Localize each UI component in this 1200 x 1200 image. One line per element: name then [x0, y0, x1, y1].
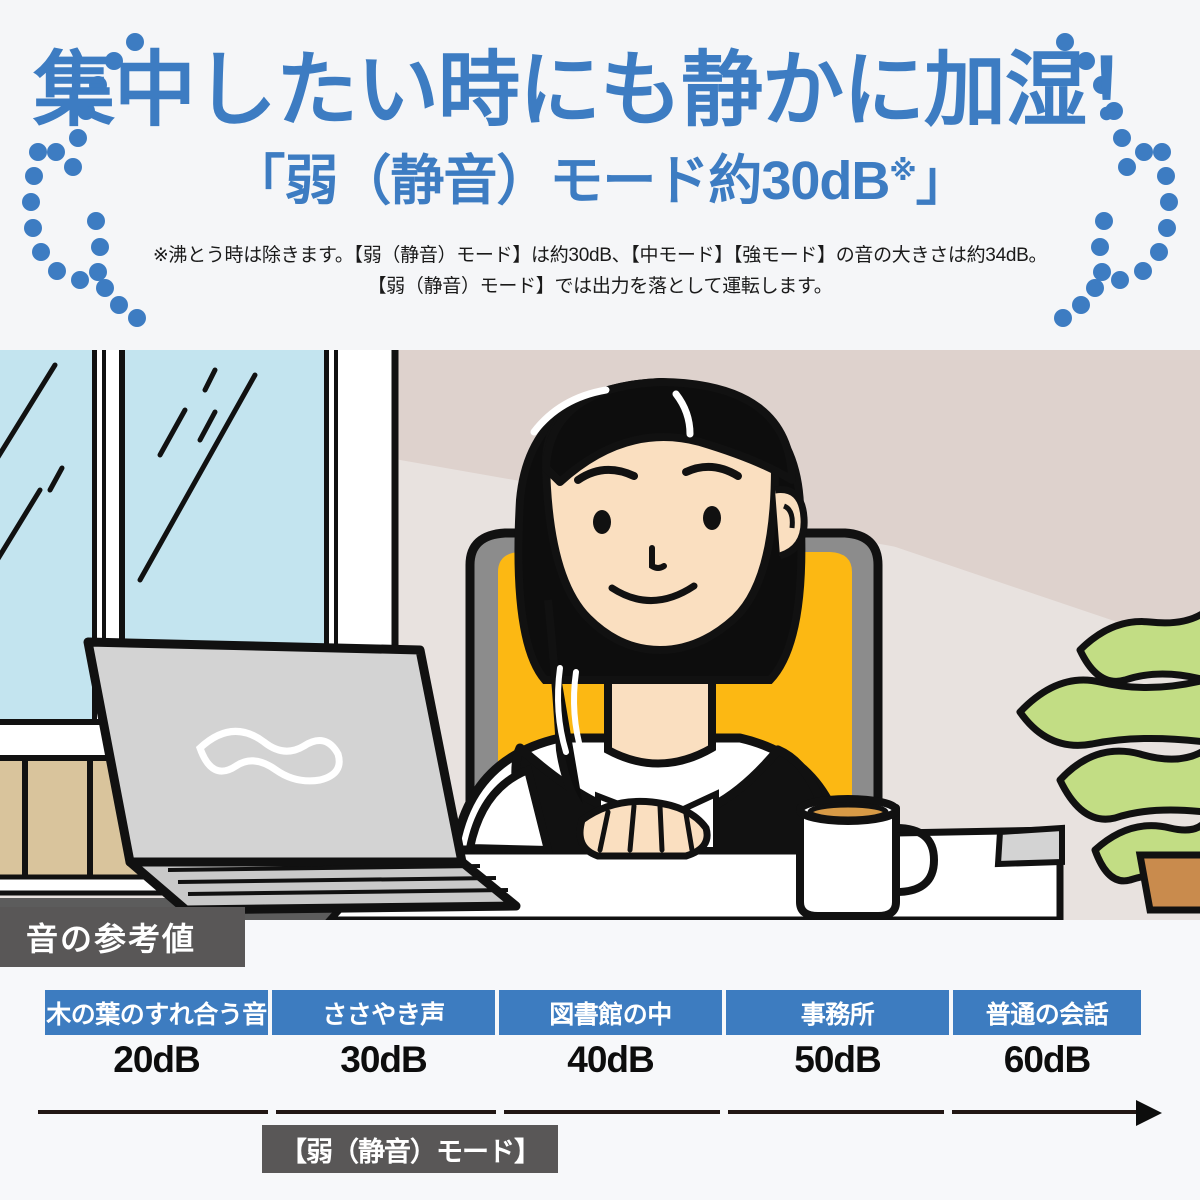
- category-label: ささやき声: [272, 990, 495, 1035]
- axis-segment: [276, 1110, 496, 1114]
- quiet-mode-annotation-badge: 【弱（静音）モード】: [262, 1125, 558, 1173]
- value-label: 30dB: [272, 1039, 495, 1081]
- page-subtitle: 「弱（静音）モード約30dB※」: [0, 152, 1200, 211]
- subtitle-text: 「弱（静音）モード約30dB: [231, 151, 889, 211]
- chart-axis: [0, 1100, 1200, 1124]
- subtitle-close-bracket: 」: [916, 151, 969, 211]
- header-section: 集中したい時にも静かに加湿！ 「弱（静音）モード約30dB※」 ※沸とう時は除き…: [0, 0, 1200, 350]
- axis-arrowhead-icon: [1136, 1100, 1162, 1126]
- axis-segment: [728, 1110, 944, 1114]
- page-title: 集中したい時にも静かに加湿！: [0, 48, 1200, 135]
- chart-columns: 木の葉のすれ合う音 20dB ささやき声 30dB 図書館の中 40dB 事務所…: [0, 990, 1200, 1105]
- axis-segment: [504, 1110, 720, 1114]
- value-label: 50dB: [726, 1039, 949, 1081]
- category-label: 木の葉のすれ合う音: [45, 990, 268, 1035]
- value-label: 60dB: [953, 1039, 1141, 1081]
- category-label: 普通の会話: [953, 990, 1141, 1035]
- reference-mark-icon: ※: [889, 155, 915, 186]
- chart-title-badge: 音の参考値: [0, 907, 245, 967]
- value-label: 40dB: [499, 1039, 722, 1081]
- illustration-scene: （イメージ）: [0, 350, 1200, 920]
- category-label: 事務所: [726, 990, 949, 1035]
- chart-column: 図書館の中 40dB: [499, 990, 722, 1081]
- category-label: 図書館の中: [499, 990, 722, 1035]
- footnote-text: ※沸とう時は除きます。【弱（静音）モード】は約30dB、【中モード】【強モード】…: [0, 240, 1200, 303]
- axis-segment: [952, 1110, 1138, 1114]
- footnote-line-1: ※沸とう時は除きます。【弱（静音）モード】は約30dB、【中モード】【強モード】…: [153, 245, 1047, 266]
- chart-column: 普通の会話 60dB: [953, 990, 1141, 1081]
- axis-segment: [38, 1110, 268, 1114]
- value-label: 20dB: [45, 1039, 268, 1081]
- sound-reference-chart: 音の参考値 木の葉のすれ合う音 20dB ささやき声 30dB 図書館の中 40…: [0, 920, 1200, 1200]
- chart-column: 木の葉のすれ合う音 20dB: [45, 990, 268, 1081]
- footnote-line-2: 【弱（静音）モード】では出力を落として運転します。: [0, 271, 1200, 302]
- chart-column: ささやき声 30dB: [272, 990, 495, 1081]
- chart-column: 事務所 50dB: [726, 990, 949, 1081]
